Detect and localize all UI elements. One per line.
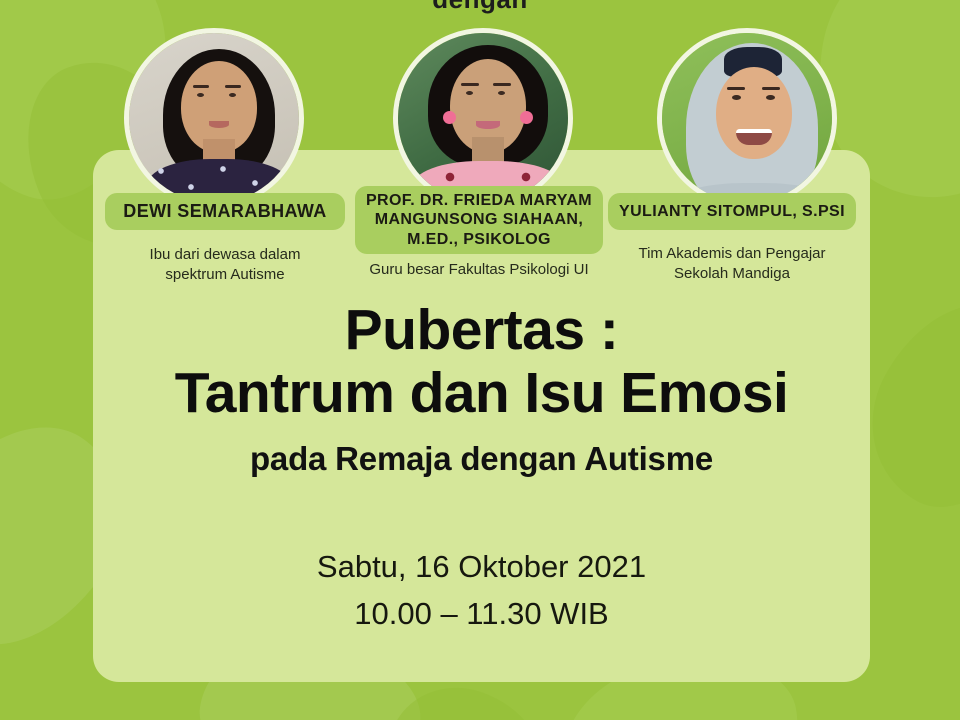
speaker-card-1 bbox=[91, 0, 336, 208]
speaker-name-2-line2: MANGUNSONG SIAHAAN, bbox=[375, 211, 584, 228]
speaker-name-2-line1: PROF. DR. FRIEDA MARYAM bbox=[366, 192, 592, 209]
speaker-name-1: DEWI SEMARABHAWA bbox=[123, 201, 326, 222]
speaker-photo-frieda bbox=[393, 28, 573, 208]
speaker-role-1-line1: Ibu dari dewasa dalam bbox=[105, 245, 345, 265]
speaker-role-1: Ibu dari dewasa dalam spektrum Autisme bbox=[105, 245, 345, 286]
speaker-name-badge-2: PROF. DR. FRIEDA MARYAM MANGUNSONG SIAHA… bbox=[355, 186, 603, 254]
speaker-role-3-line1: Tim Akademis dan Pengajar bbox=[608, 244, 856, 264]
speaker-name-3: YULIANTY SITOMPUL, S.PSI bbox=[619, 203, 845, 221]
speaker-card-3 bbox=[621, 0, 873, 208]
speaker-role-3-line2: Sekolah Mandiga bbox=[608, 264, 856, 284]
event-title-line1: Pubertas : bbox=[93, 300, 870, 360]
speaker-name-badge-1: DEWI SEMARABHAWA bbox=[105, 193, 345, 230]
speaker-role-3: Tim Akademis dan Pengajar Sekolah Mandig… bbox=[608, 244, 856, 285]
event-title-block: Pubertas : Tantrum dan Isu Emosi pada Re… bbox=[93, 300, 870, 478]
speaker-photo-dewi bbox=[124, 28, 304, 208]
speaker-role-2: Guru besar Fakultas Psikologi UI bbox=[350, 260, 608, 280]
speaker-name-badge-3: YULIANTY SITOMPUL, S.PSI bbox=[608, 193, 856, 230]
speaker-name-2-line3: M.ED., PSIKOLOG bbox=[407, 231, 551, 248]
speaker-name-2: PROF. DR. FRIEDA MARYAM MANGUNSONG SIAHA… bbox=[366, 191, 592, 250]
event-time: 10.00 – 11.30 WIB bbox=[93, 590, 870, 637]
speaker-photo-yulianty bbox=[657, 28, 837, 208]
event-title-line2: Tantrum dan Isu Emosi bbox=[93, 360, 870, 427]
event-subtitle: pada Remaja dengan Autisme bbox=[93, 440, 870, 478]
speaker-card-2 bbox=[345, 0, 620, 208]
event-schedule: Sabtu, 16 Oktober 2021 10.00 – 11.30 WIB bbox=[93, 543, 870, 637]
event-date: Sabtu, 16 Oktober 2021 bbox=[93, 543, 870, 590]
speaker-role-1-line2: spektrum Autisme bbox=[105, 265, 345, 285]
webinar-poster: dengan bbox=[0, 0, 960, 720]
speaker-role-2-line1: Guru besar Fakultas Psikologi UI bbox=[350, 260, 608, 280]
